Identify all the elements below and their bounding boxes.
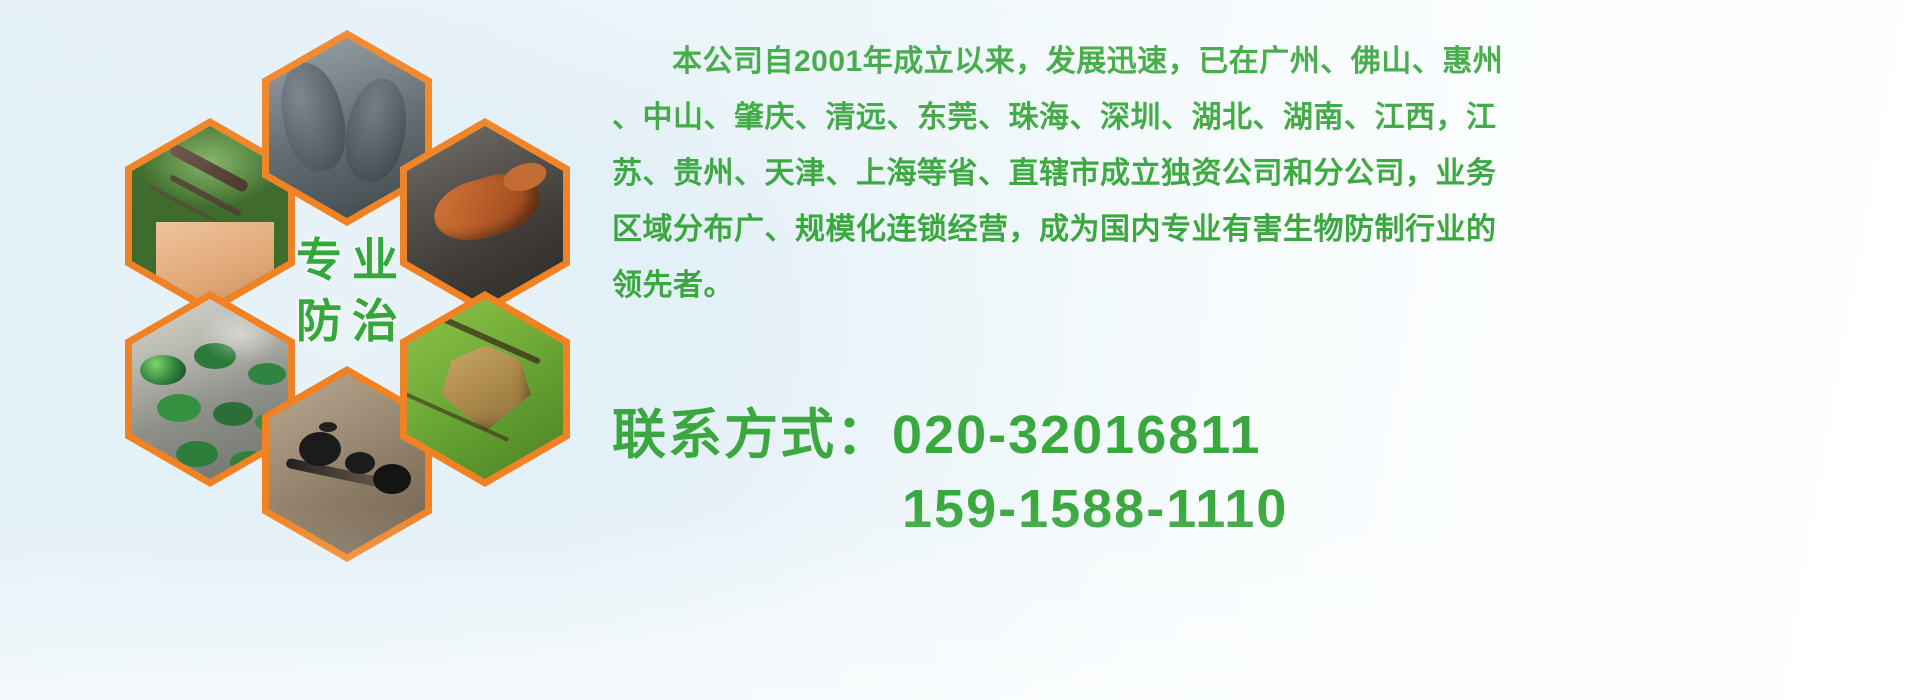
intro-paragraph: 本公司自2001年成立以来，发展迅速，已在广州、佛山、惠州 、中山、肇庆、清远、… [612,34,1892,314]
stink-bug-photo [407,299,563,479]
contact-phone-primary[interactable]: 020-32016811 [892,405,1261,465]
intro-line-5: 领先者。 [612,258,1892,314]
honeycomb-gallery: 专业 防治 [95,8,595,568]
intro-line-2: 、中山、肇庆、清远、东莞、珠海、深圳、湖北、湖南、江西，江 [612,90,1892,146]
contact-block: 联系方式：020-32016811 159-1588-1110 [612,398,1892,546]
cockroach-photo [407,126,563,306]
promo-banner: 专业 防治 本公司自2001年成立以来，发展迅速，已在广州、佛山、惠州 、中山、… [0,0,1920,700]
contact-label: 联系方式： [612,405,892,465]
hex-image-mask [407,126,563,306]
slogan-line-2: 防治 [286,291,408,352]
intro-line-4: 区域分布广、规模化连锁经营，成为国内专业有害生物防制行业的 [612,202,1892,258]
contact-secondary-line: 159-1588-1110 [612,472,1892,546]
company-intro: 本公司自2001年成立以来，发展迅速，已在广州、佛山、惠州 、中山、肇庆、清远、… [612,34,1892,314]
intro-line-1: 本公司自2001年成立以来，发展迅速，已在广州、佛山、惠州 [612,34,1892,90]
slogan-line-1: 专业 [286,230,408,291]
intro-line-3: 苏、贵州、天津、上海等省、直辖市成立独资公司和分公司，业务 [612,146,1892,202]
contact-primary-line: 联系方式：020-32016811 [612,398,1892,472]
contact-phone-secondary[interactable]: 159-1588-1110 [902,479,1288,539]
hex-image-mask [407,299,563,479]
